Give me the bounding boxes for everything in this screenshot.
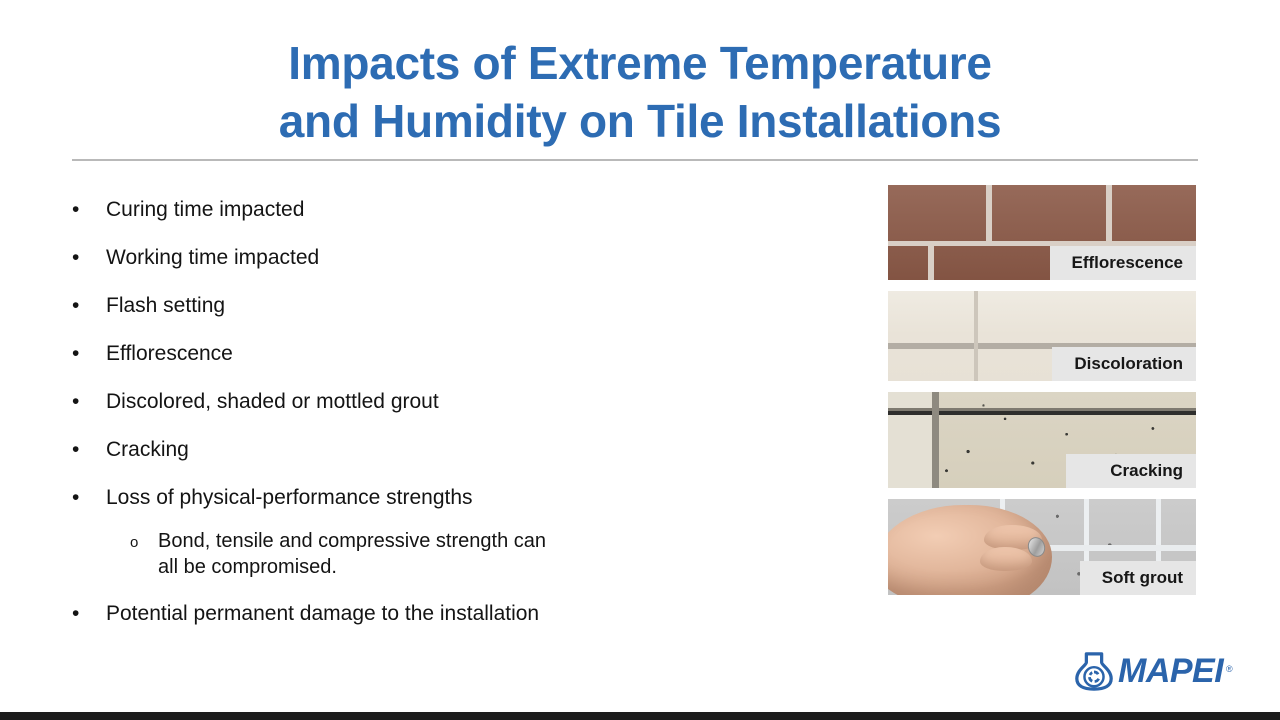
list-item: • Efflorescence: [72, 340, 832, 367]
mapei-wordmark-text: MAPEI: [1118, 652, 1223, 690]
page-title: Impacts of Extreme Temperature and Humid…: [0, 34, 1280, 150]
mapei-logo: MAPEI ®: [1073, 645, 1223, 697]
photo-cracking: Cracking: [888, 392, 1196, 488]
registered-mark: ®: [1226, 652, 1232, 686]
bullet-marker: •: [72, 340, 106, 367]
bullet-text: Flash setting: [106, 292, 225, 319]
panel-caption: Soft grout: [1080, 561, 1196, 595]
photo-efflorescence: Efflorescence: [888, 185, 1196, 280]
photo-soft-grout: Soft grout: [888, 499, 1196, 595]
bullet-marker: •: [72, 244, 106, 271]
sub-list-item: o Bond, tensile and compressive strength…: [130, 528, 832, 580]
bullet-text: Efflorescence: [106, 340, 233, 367]
bullet-text: Curing time impacted: [106, 196, 304, 223]
bullet-marker: •: [72, 196, 106, 223]
sub-bullet-marker: o: [130, 528, 158, 557]
slide-canvas: Impacts of Extreme Temperature and Humid…: [0, 0, 1280, 720]
list-item: • Loss of physical-performance strengths: [72, 484, 832, 511]
panel-caption: Efflorescence: [1050, 246, 1197, 280]
bullet-marker: •: [72, 436, 106, 463]
list-item: • Flash setting: [72, 292, 832, 319]
bullet-marker: •: [72, 292, 106, 319]
panel-caption: Discoloration: [1052, 347, 1196, 381]
list-item: • Working time impacted: [72, 244, 832, 271]
bullet-text: Potential permanent damage to the instal…: [106, 600, 539, 627]
bullet-marker: •: [72, 388, 106, 415]
title-divider: [72, 159, 1198, 161]
list-item: • Discolored, shaded or mottled grout: [72, 388, 832, 415]
bullet-marker: •: [72, 600, 106, 627]
title-line-2: and Humidity on Tile Installations: [0, 92, 1280, 150]
bullet-list: • Curing time impacted • Working time im…: [72, 196, 832, 648]
bullet-text: Cracking: [106, 436, 189, 463]
list-item: • Potential permanent damage to the inst…: [72, 600, 832, 627]
sub-bullet-text: Bond, tensile and compressive strength c…: [158, 528, 546, 580]
bottom-letterbox-bar: [0, 712, 1280, 720]
panel-caption: Cracking: [1066, 454, 1196, 488]
bullet-text: Loss of physical-performance strengths: [106, 484, 473, 511]
list-item: • Cracking: [72, 436, 832, 463]
image-panel-group: Efflorescence Discoloration Cracking: [888, 185, 1196, 606]
bullet-text: Working time impacted: [106, 244, 319, 271]
list-item: • Curing time impacted: [72, 196, 832, 223]
title-line-1: Impacts of Extreme Temperature: [0, 34, 1280, 92]
mapei-wordmark: MAPEI ®: [1118, 654, 1223, 688]
mapei-flask-emblem-icon: [1073, 650, 1115, 692]
photo-discoloration: Discoloration: [888, 291, 1196, 381]
bullet-text: Discolored, shaded or mottled grout: [106, 388, 439, 415]
bullet-marker: •: [72, 484, 106, 511]
